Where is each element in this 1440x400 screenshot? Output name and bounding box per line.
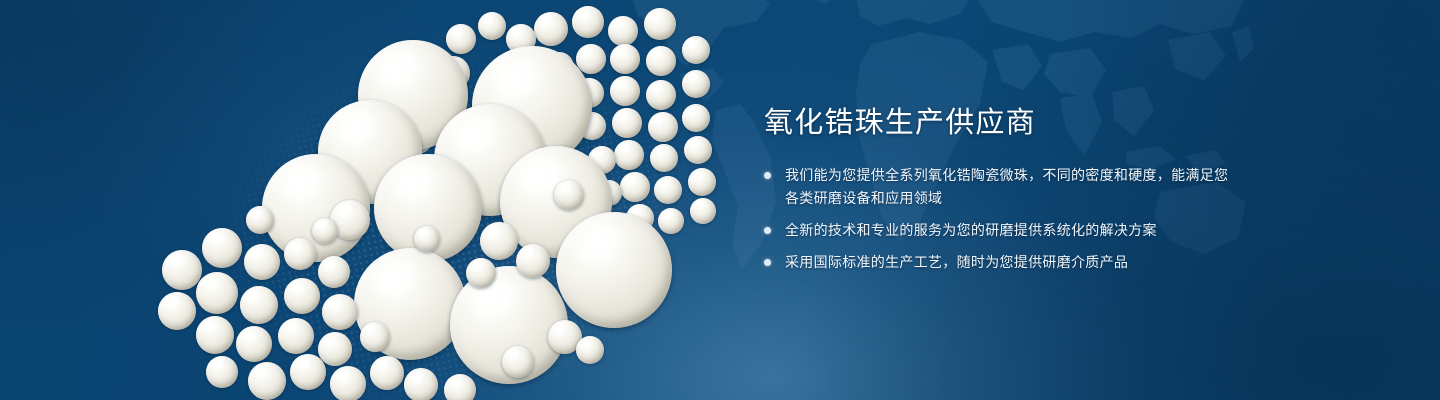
page-title: 氧化锆珠生产供应商 <box>764 104 1234 142</box>
bead <box>246 206 274 234</box>
bead <box>248 362 286 400</box>
bead <box>158 292 196 330</box>
bead <box>684 136 712 164</box>
bead <box>312 218 338 244</box>
bead <box>576 336 604 364</box>
bead <box>682 70 710 98</box>
bead <box>404 368 438 400</box>
bead <box>612 108 642 138</box>
bead <box>278 318 314 354</box>
feature-list: 我们能为您提供全系列氧化锆陶瓷微珠，不同的密度和硬度，能满足您各类研磨设备和应用… <box>764 164 1234 274</box>
bullet-dot-icon <box>764 172 771 179</box>
bead <box>196 316 234 354</box>
bullet-dot-icon <box>764 259 771 266</box>
bead <box>196 272 238 314</box>
bead <box>318 332 352 366</box>
bead <box>414 226 440 252</box>
bead <box>516 244 550 278</box>
zirconia-beads-photo <box>0 0 760 400</box>
bead-large <box>556 212 672 328</box>
bead <box>284 238 316 270</box>
bead <box>576 44 606 74</box>
bead <box>620 172 650 202</box>
bead <box>610 44 640 74</box>
bead <box>650 144 678 172</box>
bead <box>572 6 604 38</box>
list-item-label: 我们能为您提供全系列氧化锆陶瓷微珠，不同的密度和硬度，能满足您各类研磨设备和应用… <box>785 164 1234 210</box>
bead <box>370 356 404 390</box>
list-item: 我们能为您提供全系列氧化锆陶瓷微珠，不同的密度和硬度，能满足您各类研磨设备和应用… <box>764 164 1234 210</box>
bead <box>322 294 358 330</box>
bead <box>444 374 476 400</box>
bead <box>614 140 644 170</box>
bead <box>360 322 390 352</box>
bead <box>534 12 568 46</box>
bead <box>688 168 716 196</box>
bead <box>330 366 366 400</box>
list-item: 全新的技术和专业的服务为您的研磨提供系统化的解决方案 <box>764 219 1234 242</box>
bead <box>646 80 676 110</box>
bead <box>162 250 202 290</box>
bead <box>206 356 238 388</box>
bead <box>240 286 278 324</box>
hero-banner: 氧化锆珠生产供应商 我们能为您提供全系列氧化锆陶瓷微珠，不同的密度和硬度，能满足… <box>0 0 1440 400</box>
banner-copy: 氧化锆珠生产供应商 我们能为您提供全系列氧化锆陶瓷微珠，不同的密度和硬度，能满足… <box>764 104 1234 283</box>
list-item-label: 采用国际标准的生产工艺，随时为您提供研磨介质产品 <box>785 251 1128 274</box>
bullet-dot-icon <box>764 227 771 234</box>
bead <box>236 326 272 362</box>
bead <box>682 36 710 64</box>
list-item-label: 全新的技术和专业的服务为您的研磨提供系统化的解决方案 <box>785 219 1157 242</box>
bead <box>478 12 506 40</box>
bead <box>290 354 326 390</box>
bead <box>690 198 716 224</box>
bead <box>480 222 518 260</box>
bead <box>610 76 640 106</box>
bead <box>644 8 676 40</box>
bead <box>646 46 676 76</box>
bead <box>466 258 496 288</box>
bead <box>648 112 678 142</box>
bead <box>608 16 638 46</box>
bead <box>654 176 682 204</box>
bead <box>658 208 684 234</box>
bead <box>554 180 584 210</box>
bead <box>446 24 476 54</box>
bead <box>502 346 534 378</box>
bead <box>682 104 710 132</box>
bead <box>284 278 320 314</box>
list-item: 采用国际标准的生产工艺，随时为您提供研磨介质产品 <box>764 251 1234 274</box>
bead <box>318 256 350 288</box>
bead <box>202 228 242 268</box>
bead <box>244 244 280 280</box>
